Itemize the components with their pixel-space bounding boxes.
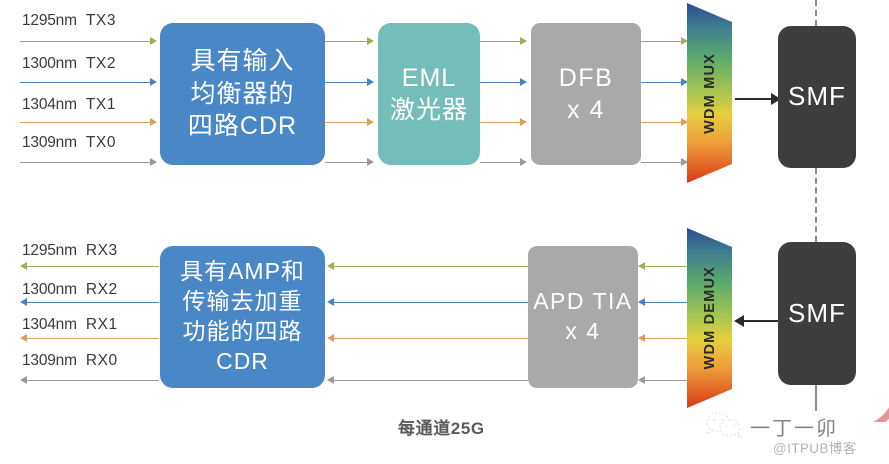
rx-channel-label-2: 1304nmRX1 xyxy=(22,316,118,334)
rx-wdm-apd-line-2 xyxy=(645,338,690,339)
tx-wavelength-1: 1300nm xyxy=(22,55,77,72)
tx-input-arrow-2 xyxy=(150,118,157,126)
tx-eml-label: EML 激光器 xyxy=(390,62,468,127)
tx-input-line-1 xyxy=(20,82,152,83)
fiber-dash-middle xyxy=(815,168,817,242)
diagram-canvas: 1295nmTX3 1300nmTX2 1304nmTX1 1309nmTX0 … xyxy=(0,0,889,464)
rx-apd-tia-label: APD TIA x 4 xyxy=(533,287,633,347)
rx-output-arrow-3 xyxy=(20,376,27,384)
watermark-source: @ITPUB博客 xyxy=(773,437,857,457)
tx-dfb-wdm-line-1 xyxy=(641,82,683,83)
rx-port-3: RX0 xyxy=(86,352,118,369)
tx-fiber-dash-top xyxy=(815,0,817,26)
rx-output-arrow-1 xyxy=(20,298,27,306)
tx-eml-dfb-arrow-1 xyxy=(520,78,527,86)
rx-wdm-demux-block[interactable]: WDM DEMUX xyxy=(686,227,734,409)
rx-output-line-0 xyxy=(27,266,159,267)
rx-fiber-stub-bottom xyxy=(815,385,817,411)
tx-input-arrow-1 xyxy=(150,78,157,86)
tx-input-line-3 xyxy=(20,162,152,163)
rx-output-line-1 xyxy=(27,302,159,303)
tx-wavelength-0: 1295nm xyxy=(22,12,77,29)
tx-input-line-0 xyxy=(20,41,152,42)
rx-channel-label-0: 1295nmRX3 xyxy=(22,242,118,260)
tx-cdr-eml-arrow-1 xyxy=(367,78,374,86)
tx-port-2: TX1 xyxy=(86,96,116,113)
rx-wdm-apd-arrow-2 xyxy=(638,334,645,342)
rx-wdm-apd-line-1 xyxy=(645,302,690,303)
rx-channel-label-1: 1300nmRX2 xyxy=(22,281,118,299)
tx-port-3: TX0 xyxy=(86,134,116,151)
rx-smf-label: SMF xyxy=(788,297,846,331)
tx-cdr-eml-line-0 xyxy=(325,41,369,42)
rx-cdr-block[interactable]: 具有AMP和 传输去加重 功能的四路 CDR xyxy=(160,246,325,388)
tx-wdm-mux-block[interactable]: WDM MUX xyxy=(686,2,734,184)
rx-apd-cdr-arrow-2 xyxy=(327,334,334,342)
tx-channel-label-1: 1300nmTX2 xyxy=(22,55,116,73)
watermark-corner-arc xyxy=(845,400,889,422)
rx-output-line-2 xyxy=(27,338,159,339)
tx-dfb-wdm-line-3 xyxy=(641,162,683,163)
rx-wavelength-3: 1309nm xyxy=(22,352,77,369)
tx-eml-dfb-line-2 xyxy=(480,122,522,123)
tx-cdr-label: 具有输入 均衡器的 四路CDR xyxy=(188,45,297,143)
rx-apd-cdr-line-0 xyxy=(334,266,528,267)
tx-wavelength-3: 1309nm xyxy=(22,134,77,151)
tx-channel-label-0: 1295nmTX3 xyxy=(22,12,116,30)
rx-wavelength-2: 1304nm xyxy=(22,316,77,333)
rx-output-line-3 xyxy=(27,380,159,381)
tx-dfb-wdm-line-0 xyxy=(641,41,683,42)
rx-smf-link-line xyxy=(744,320,778,322)
rx-wavelength-0: 1295nm xyxy=(22,242,77,259)
tx-cdr-eml-arrow-2 xyxy=(367,118,374,126)
rx-wdm-apd-line-3 xyxy=(645,380,690,381)
tx-smf-link-line xyxy=(735,98,775,100)
tx-input-arrow-0 xyxy=(150,37,157,45)
rx-wdm-apd-arrow-1 xyxy=(638,298,645,306)
rx-apd-cdr-line-1 xyxy=(334,302,528,303)
rx-apd-cdr-arrow-1 xyxy=(327,298,334,306)
rx-wdm-apd-line-0 xyxy=(645,266,690,267)
rx-smf-link-arrow xyxy=(734,315,744,327)
tx-eml-dfb-arrow-3 xyxy=(520,158,527,166)
tx-cdr-block[interactable]: 具有输入 均衡器的 四路CDR xyxy=(160,23,325,165)
tx-dfb-wdm-line-2 xyxy=(641,122,683,123)
rx-output-arrow-0 xyxy=(20,262,27,270)
rx-apd-cdr-line-3 xyxy=(334,380,528,381)
tx-cdr-eml-line-2 xyxy=(325,122,369,123)
tx-input-line-2 xyxy=(20,122,152,123)
tx-smf-block[interactable]: SMF xyxy=(778,26,856,168)
rx-cdr-label: 具有AMP和 传输去加重 功能的四路 CDR xyxy=(180,257,305,377)
tx-wavelength-2: 1304nm xyxy=(22,96,77,113)
rx-port-2: RX1 xyxy=(86,316,118,333)
rx-channel-label-3: 1309nmRX0 xyxy=(22,352,118,370)
per-channel-caption: 每通道25G xyxy=(398,414,485,439)
rx-port-0: RX3 xyxy=(86,242,118,259)
rx-smf-block[interactable]: SMF xyxy=(778,242,856,385)
tx-eml-dfb-line-1 xyxy=(480,82,522,83)
tx-eml-dfb-arrow-2 xyxy=(520,118,527,126)
rx-wdm-apd-arrow-3 xyxy=(638,376,645,384)
rx-output-arrow-2 xyxy=(20,334,27,342)
tx-dfb-label: DFB x 4 xyxy=(559,62,614,127)
rx-wdm-apd-arrow-0 xyxy=(638,262,645,270)
tx-channel-label-3: 1309nmTX0 xyxy=(22,134,116,152)
tx-input-arrow-3 xyxy=(150,158,157,166)
tx-port-1: TX2 xyxy=(86,55,116,72)
rx-wavelength-1: 1300nm xyxy=(22,281,77,298)
rx-port-1: RX2 xyxy=(86,281,118,298)
tx-port-0: TX3 xyxy=(86,12,116,29)
tx-cdr-eml-line-1 xyxy=(325,82,369,83)
wechat-icon xyxy=(704,410,744,445)
tx-cdr-eml-arrow-0 xyxy=(367,37,374,45)
tx-eml-block[interactable]: EML 激光器 xyxy=(378,23,480,165)
tx-eml-dfb-arrow-0 xyxy=(520,37,527,45)
tx-cdr-eml-arrow-3 xyxy=(367,158,374,166)
tx-channel-label-2: 1304nmTX1 xyxy=(22,96,116,114)
tx-cdr-eml-line-3 xyxy=(325,162,369,163)
rx-apd-cdr-arrow-0 xyxy=(327,262,334,270)
rx-apd-cdr-arrow-3 xyxy=(327,376,334,384)
tx-eml-dfb-line-3 xyxy=(480,162,522,163)
tx-smf-label: SMF xyxy=(788,80,846,114)
rx-apd-cdr-line-2 xyxy=(334,338,528,339)
rx-apd-tia-block[interactable]: APD TIA x 4 xyxy=(528,246,638,388)
tx-eml-dfb-line-0 xyxy=(480,41,522,42)
tx-dfb-block[interactable]: DFB x 4 xyxy=(531,23,641,165)
